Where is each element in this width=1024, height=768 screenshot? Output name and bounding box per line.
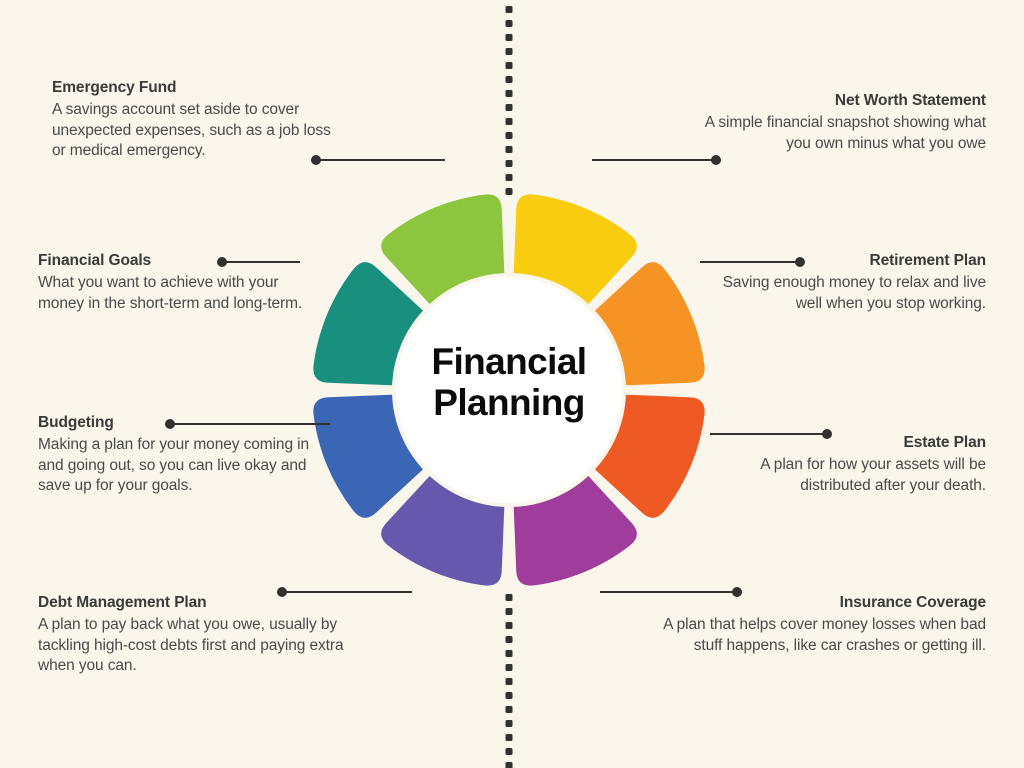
callout-description: A plan for how your assets will be distr…	[700, 455, 986, 496]
callout-description: Saving enough money to relax and live we…	[700, 273, 986, 314]
divider-dot	[506, 174, 513, 181]
divider-dot	[506, 650, 513, 657]
divider-dot	[506, 622, 513, 629]
center-title-line-1: Financial	[389, 341, 629, 382]
divider-dot	[506, 146, 513, 153]
callout-budgeting[interactable]: Budgeting Making a plan for your money c…	[38, 413, 318, 497]
callout-title: Budgeting	[38, 413, 318, 432]
divider-dot	[506, 20, 513, 27]
infographic-canvas: Financial Planning Emergency Fund A savi…	[0, 0, 1024, 768]
connector-dot	[711, 155, 721, 165]
callout-estate-plan[interactable]: Estate Plan A plan for how your assets w…	[700, 433, 986, 496]
divider-dot	[506, 636, 513, 643]
center-title-line-2: Planning	[389, 382, 629, 423]
callout-title: Emergency Fund	[52, 78, 342, 97]
callout-title: Financial Goals	[38, 251, 318, 270]
divider-dot	[506, 6, 513, 13]
center-title: Financial Planning	[389, 341, 629, 424]
divider-dot	[506, 720, 513, 727]
callout-title: Retirement Plan	[700, 251, 986, 270]
divider-dot	[506, 76, 513, 83]
divider-dot	[506, 748, 513, 755]
divider-dot	[506, 62, 513, 69]
callout-title: Estate Plan	[700, 433, 986, 452]
divider-dot	[506, 734, 513, 741]
callout-debt-management-plan[interactable]: Debt Management Plan A plan to pay back …	[38, 593, 368, 677]
divider-dot	[506, 104, 513, 111]
divider-dot	[506, 160, 513, 167]
divider-dot	[506, 34, 513, 41]
divider-dot	[506, 664, 513, 671]
divider-dot	[506, 692, 513, 699]
callout-retirement-plan[interactable]: Retirement Plan Saving enough money to r…	[700, 251, 986, 314]
callout-description: A plan that helps cover money losses whe…	[648, 615, 986, 656]
divider-dot	[506, 132, 513, 139]
callout-title: Insurance Coverage	[648, 593, 986, 612]
divider-dot	[506, 706, 513, 713]
divider-dot	[506, 48, 513, 55]
callout-title: Debt Management Plan	[38, 593, 368, 612]
divider-dot	[506, 188, 513, 195]
divider-dot	[506, 118, 513, 125]
callout-net-worth-statement[interactable]: Net Worth Statement A simple financial s…	[700, 91, 986, 154]
callout-description: Making a plan for your money coming in a…	[38, 435, 318, 496]
callout-description: A plan to pay back what you owe, usually…	[38, 615, 368, 676]
callout-description: What you want to achieve with your money…	[38, 273, 318, 314]
divider-dot	[506, 608, 513, 615]
callout-emergency-fund[interactable]: Emergency Fund A savings account set asi…	[52, 78, 342, 162]
divider-dot	[506, 678, 513, 685]
callout-description: A savings account set aside to cover une…	[52, 100, 342, 161]
callout-description: A simple financial snapshot showing what…	[700, 113, 986, 154]
divider-dot	[506, 762, 513, 768]
divider-dot	[506, 594, 513, 601]
callout-financial-goals[interactable]: Financial Goals What you want to achieve…	[38, 251, 318, 314]
callout-title: Net Worth Statement	[700, 91, 986, 110]
divider-dot	[506, 90, 513, 97]
callout-insurance-coverage[interactable]: Insurance Coverage A plan that helps cov…	[648, 593, 986, 656]
